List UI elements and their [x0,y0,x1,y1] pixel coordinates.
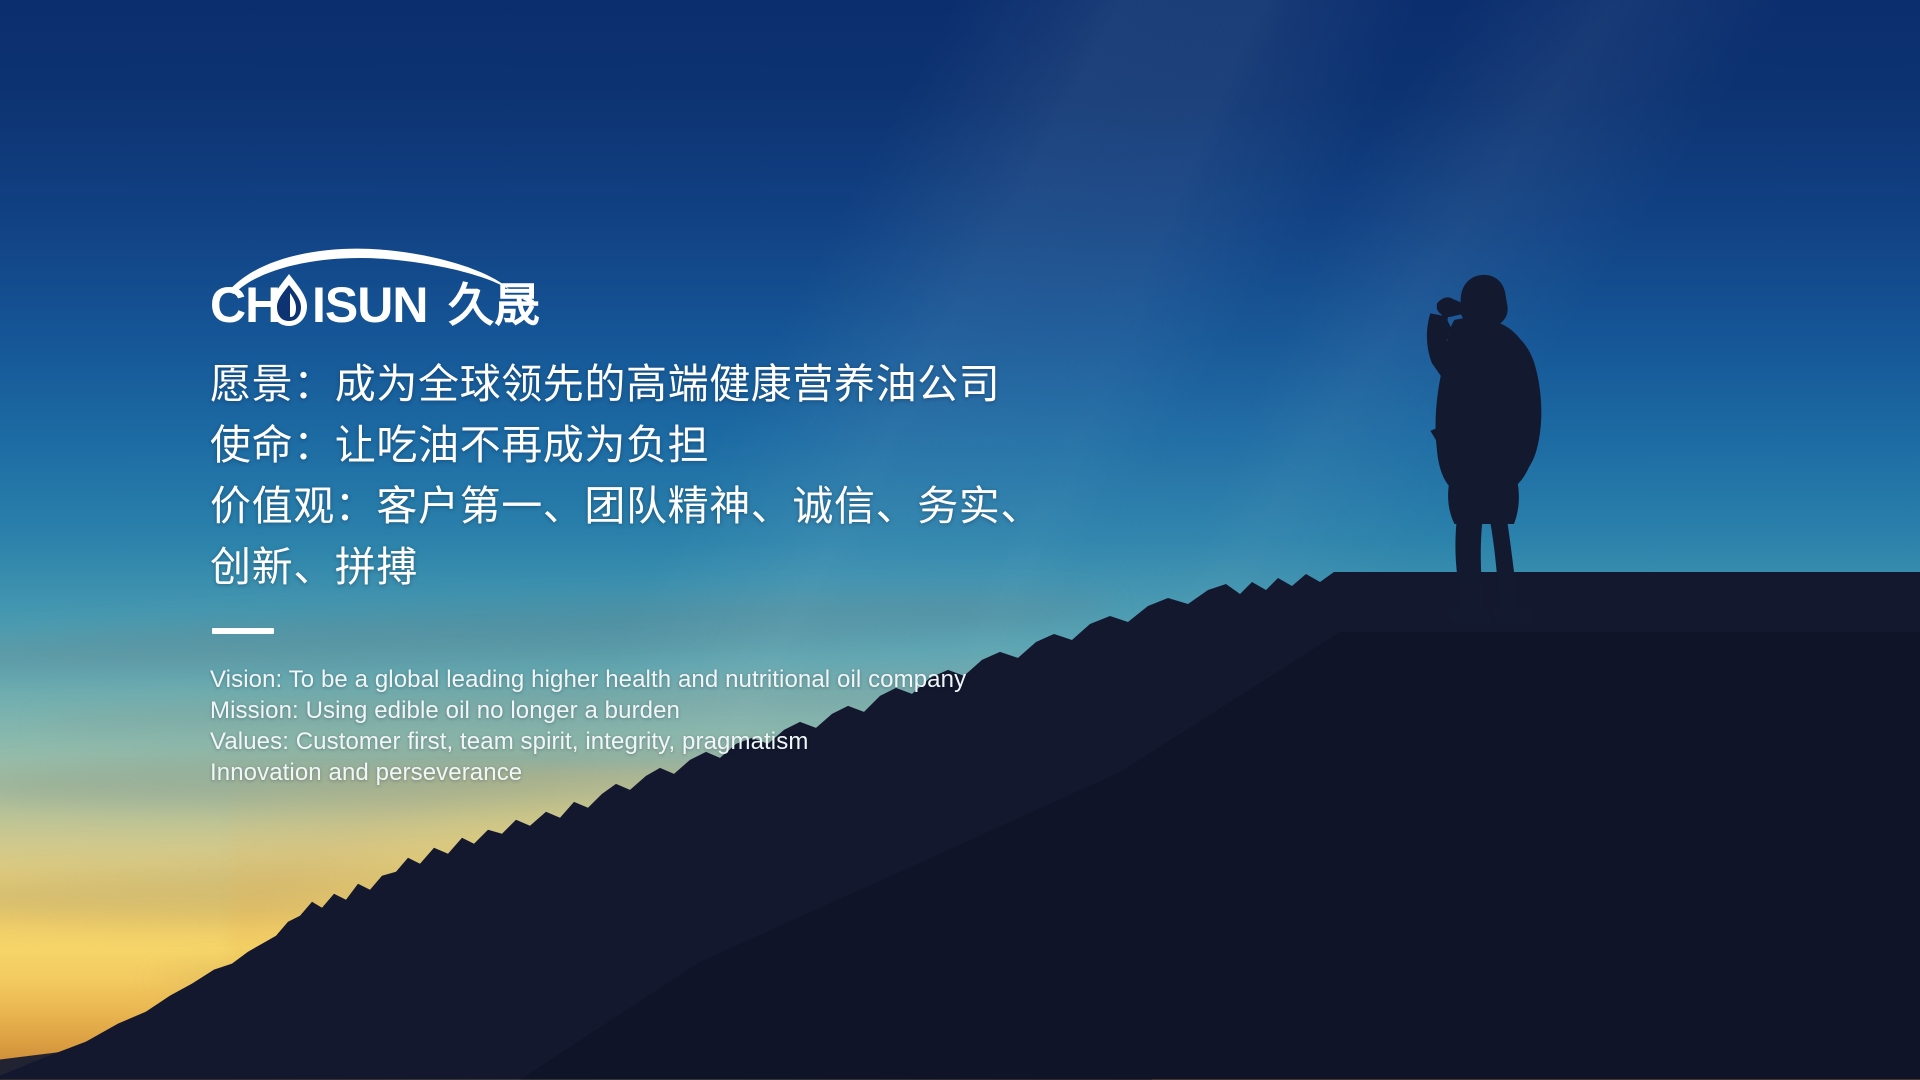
values-line-cn-b: 创新、拼搏 [210,537,1160,598]
values-line-en-a: Values: Customer first, team spirit, int… [210,726,1160,757]
mission-line-en: Mission: Using edible oil no longer a bu… [210,695,1160,726]
vision-line-en: Vision: To be a global leading higher he… [210,664,1160,695]
slide-canvas: CH ISUN 久晟 愿景：成为全球领先的高端健康营养油公司 使命：让吃油不再成… [0,0,1920,1080]
values-line-cn-a: 价值观：客户第一、团队精神、诚信、务实、 [210,476,1160,537]
brand-logo[interactable]: CH ISUN 久晟 [210,248,555,328]
vision-line-cn: 愿景：成为全球领先的高端健康营养油公司 [210,354,1160,415]
svg-text:久晟: 久晟 [448,278,540,328]
hiker-with-binoculars-icon [1369,270,1580,632]
values-line-en-b: Innovation and perseverance [210,757,1160,788]
choisun-logo-icon: CH ISUN 久晟 [210,248,555,328]
mission-line-cn: 使命：让吃油不再成为负担 [210,415,1160,476]
svg-text:CH: CH [210,277,280,328]
section-divider [212,628,274,634]
mission-statement-en: Vision: To be a global leading higher he… [210,664,1160,788]
slide-content: CH ISUN 久晟 愿景：成为全球领先的高端健康营养油公司 使命：让吃油不再成… [210,248,1160,788]
svg-text:ISUN: ISUN [312,277,427,328]
mission-statement-cn: 愿景：成为全球领先的高端健康营养油公司 使命：让吃油不再成为负担 价值观：客户第… [210,354,1160,598]
